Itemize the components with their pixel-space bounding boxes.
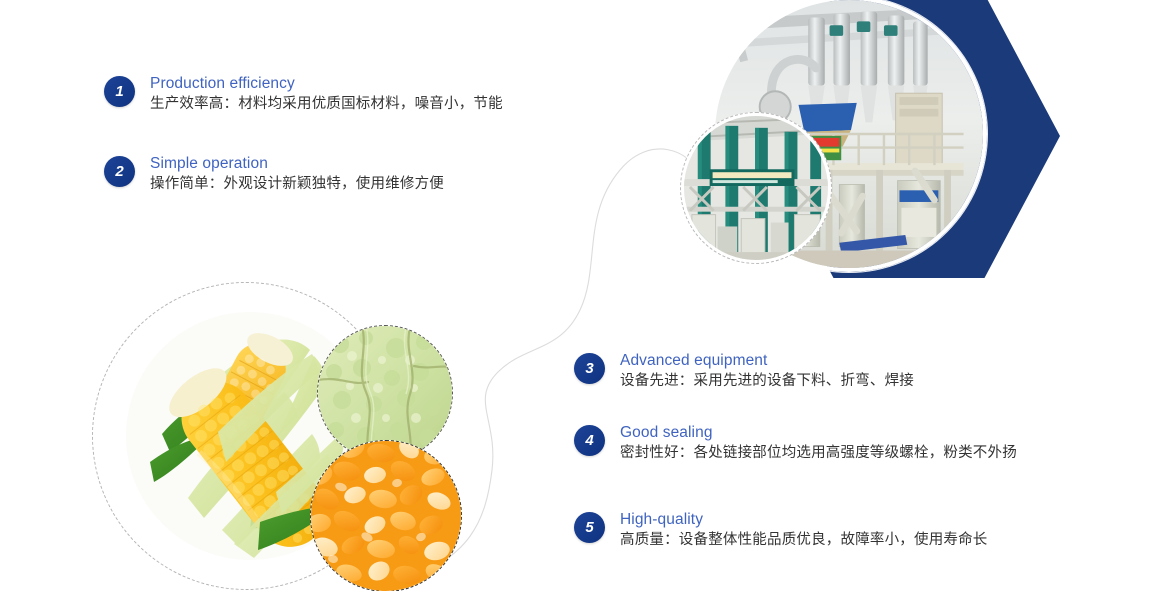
- corn-grits-photo: [310, 440, 462, 591]
- feature-title-en-4: Good sealing: [620, 423, 1017, 442]
- feature-text-5: High-quality 高质量：设备整体性能品质优良，故障率小，使用寿命长: [620, 510, 988, 551]
- feature-title-en-5: High-quality: [620, 510, 988, 529]
- feature-title-en-1: Production efficiency: [150, 74, 503, 93]
- feature-item-5[interactable]: 5 High-quality 高质量：设备整体性能品质优良，故障率小，使用寿命长: [574, 512, 988, 551]
- feature-badge-3: 3: [574, 353, 605, 384]
- feature-desc-cn-2: 操作简单：外观设计新颖独特，使用维修方便: [150, 173, 444, 195]
- feature-title-en-2: Simple operation: [150, 154, 444, 173]
- feature-item-3[interactable]: 3 Advanced equipment 设备先进：采用先进的设备下料、折弯、焊…: [574, 353, 914, 392]
- feature-desc-cn-1: 生产效率高：材料均采用优质国标材料，噪音小，节能: [150, 93, 503, 115]
- feature-text-2: Simple operation 操作简单：外观设计新颖独特，使用维修方便: [150, 154, 444, 195]
- feature-text-3: Advanced equipment 设备先进：采用先进的设备下料、折弯、焊接: [620, 351, 914, 392]
- feature-desc-cn-5: 高质量：设备整体性能品质优良，故障率小，使用寿命长: [620, 529, 988, 551]
- feature-desc-cn-4: 密封性好：各处链接部位均选用高强度等级螺栓，粉类不外扬: [620, 442, 1017, 464]
- feature-title-en-3: Advanced equipment: [620, 351, 914, 370]
- feature-desc-cn-3: 设备先进：采用先进的设备下料、折弯、焊接: [620, 370, 914, 392]
- feature-list-banner: 1 Production efficiency 生产效率高：材料均采用优质国标材…: [0, 0, 1154, 591]
- feature-item-2[interactable]: 2 Simple operation 操作简单：外观设计新颖独特，使用维修方便: [104, 156, 444, 195]
- feature-text-1: Production efficiency 生产效率高：材料均采用优质国标材料，…: [150, 74, 503, 115]
- feature-badge-2: 2: [104, 156, 135, 187]
- feature-item-1[interactable]: 1 Production efficiency 生产效率高：材料均采用优质国标材…: [104, 76, 503, 115]
- feature-item-4[interactable]: 4 Good sealing 密封性好：各处链接部位均选用高强度等级螺栓，粉类不…: [574, 425, 1017, 464]
- secondary-milling-equipment-photo: [680, 112, 832, 264]
- feature-badge-4: 4: [574, 425, 605, 456]
- feature-badge-1: 1: [104, 76, 135, 107]
- feature-badge-5: 5: [574, 512, 605, 543]
- feature-text-4: Good sealing 密封性好：各处链接部位均选用高强度等级螺栓，粉类不外扬: [620, 423, 1017, 464]
